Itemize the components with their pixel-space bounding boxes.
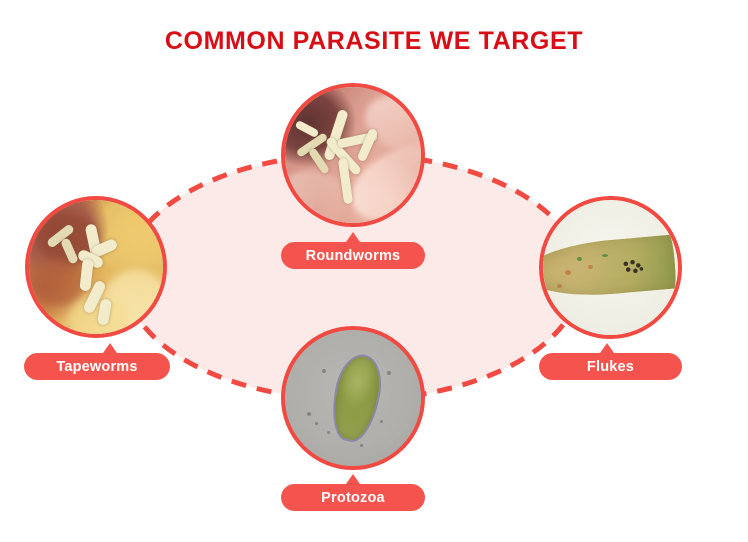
protozoa-label[interactable]: Protozoa — [281, 484, 425, 511]
flukes-image — [543, 200, 678, 335]
node-tapeworms[interactable] — [25, 196, 167, 338]
flukes-pointer — [600, 343, 614, 353]
roundworms-label[interactable]: Roundworms — [281, 242, 425, 269]
tapeworms-label[interactable]: Tapeworms — [24, 353, 170, 380]
flukes-circle[interactable] — [539, 196, 682, 339]
roundworms-pointer — [346, 232, 360, 242]
flukes-label[interactable]: Flukes — [539, 353, 682, 380]
debris-dot-4 — [327, 431, 330, 434]
protozoa-pointer — [346, 474, 360, 484]
protozoa-circle[interactable] — [281, 326, 425, 470]
debris-dot-2 — [307, 412, 311, 416]
tapeworms-pointer — [103, 343, 117, 353]
roundworms-circle[interactable] — [281, 83, 425, 227]
tapeworms-circle[interactable] — [25, 196, 167, 338]
infographic-canvas: COMMON PARASITE WE TARGET R — [0, 0, 748, 542]
fluke-marking-3 — [577, 257, 582, 261]
debris-dot-5 — [387, 371, 391, 375]
node-flukes[interactable] — [539, 196, 682, 339]
tapeworms-image — [29, 200, 163, 334]
tissue-lobe-4 — [112, 208, 163, 262]
fluke-marking-2 — [588, 265, 593, 269]
protozoa-image — [285, 330, 421, 466]
fluke-speckle-cluster — [621, 259, 645, 275]
node-protozoa[interactable] — [281, 326, 425, 470]
node-roundworms[interactable] — [281, 83, 425, 227]
debris-dot-6 — [380, 420, 383, 423]
fluke-marking-5 — [557, 284, 562, 288]
tissue-lobe-2 — [32, 259, 86, 305]
roundworms-image — [285, 87, 421, 223]
fluke-marking-1 — [565, 270, 571, 275]
